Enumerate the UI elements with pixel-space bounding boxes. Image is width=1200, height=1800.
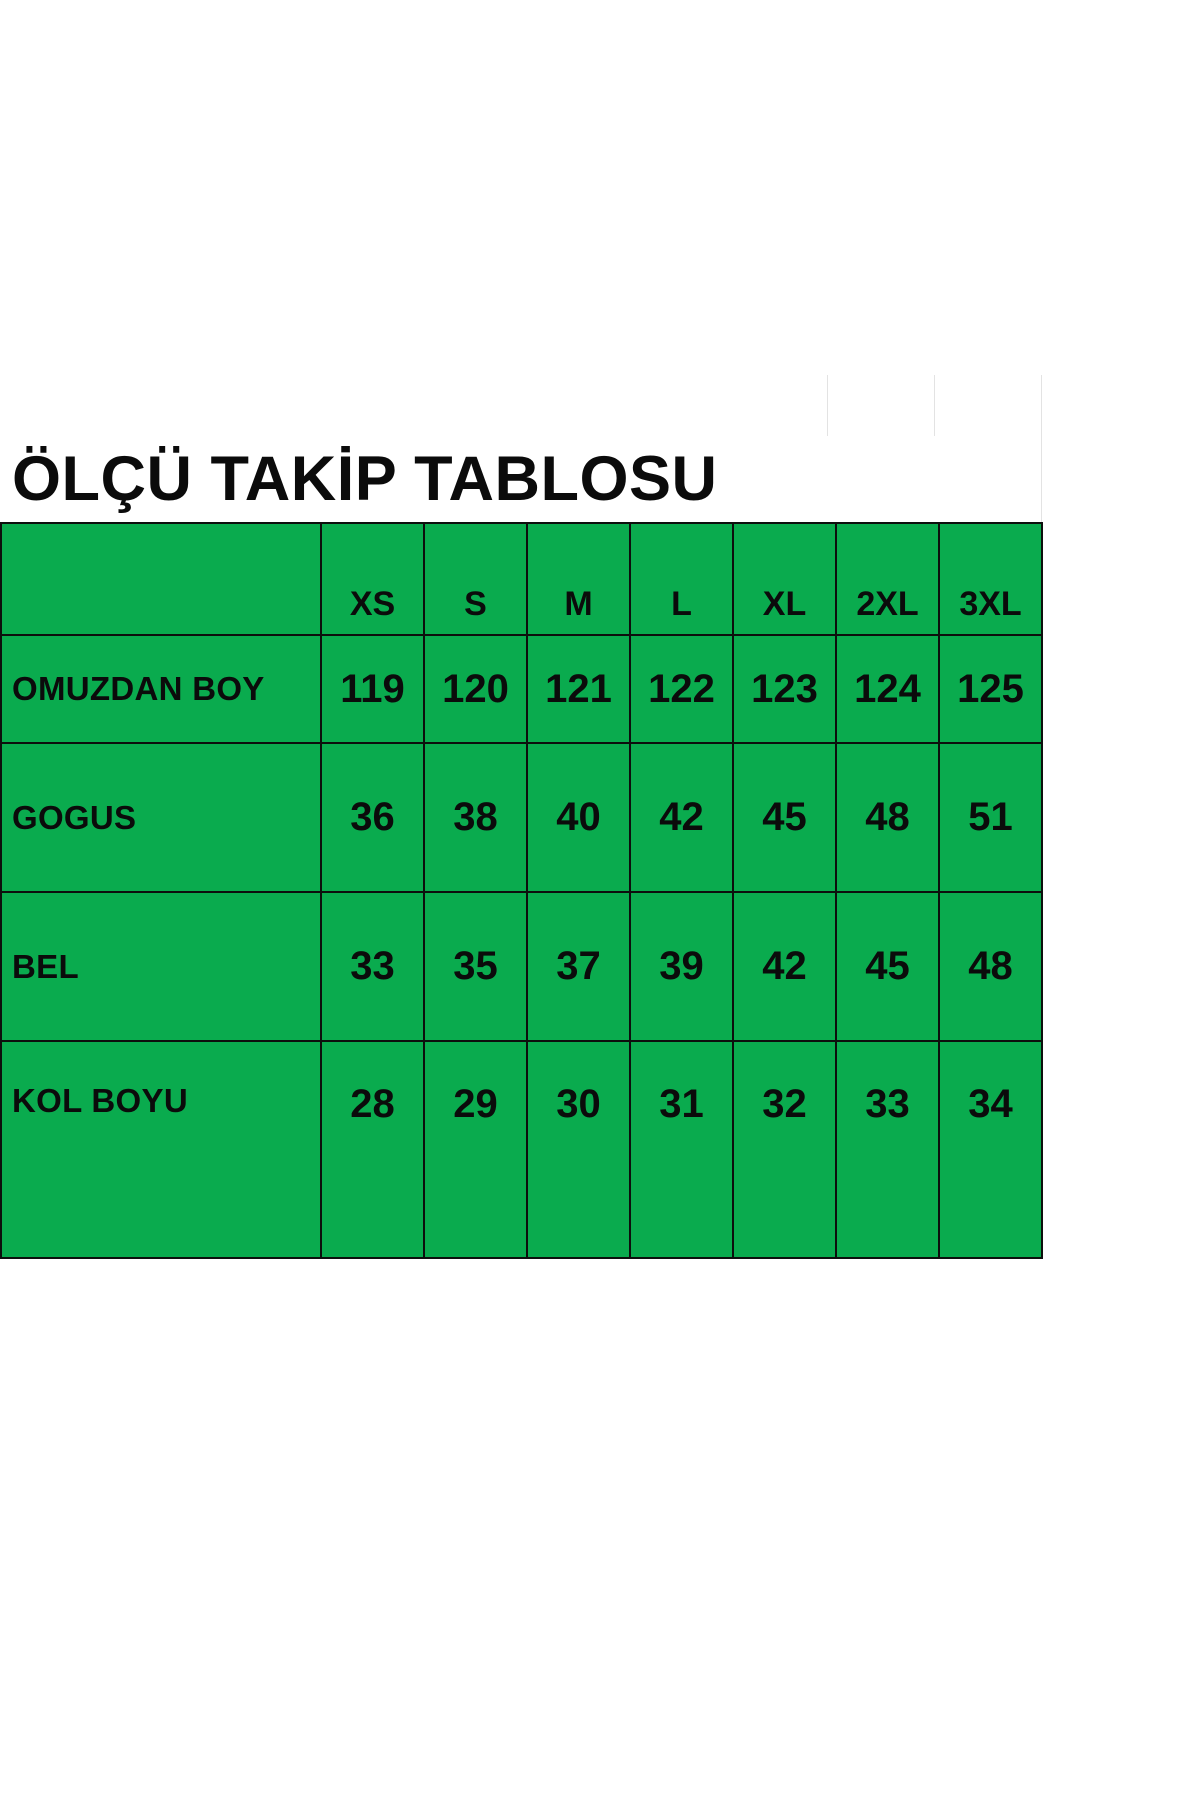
- table-row: OMUZDAN BOY 119 120 121 122 123 124 125: [1, 635, 1042, 743]
- table-row: KOL BOYU 28 29 30 31 32 33 34: [1, 1041, 1042, 1258]
- cell-kol-boyu-3xl: 34: [939, 1041, 1042, 1258]
- cell-omuzdan-boy-2xl: 124: [836, 635, 939, 743]
- cell-gogus-l: 42: [630, 743, 733, 892]
- cell-bel-s: 35: [424, 892, 527, 1041]
- column-header-m: M: [527, 523, 630, 635]
- cell-gogus-xl: 45: [733, 743, 836, 892]
- row-label-gogus: GOGUS: [1, 743, 321, 892]
- page-title-container: ÖLÇÜ TAKİP TABLOSU: [0, 436, 1040, 522]
- cell-omuzdan-boy-xs: 119: [321, 635, 424, 743]
- cell-bel-l: 39: [630, 892, 733, 1041]
- cell-gogus-2xl: 48: [836, 743, 939, 892]
- cell-gogus-xs: 36: [321, 743, 424, 892]
- table-row: GOGUS 36 38 40 42 45 48 51: [1, 743, 1042, 892]
- table-corner-cell: [1, 523, 321, 635]
- cell-omuzdan-boy-3xl: 125: [939, 635, 1042, 743]
- cell-kol-boyu-xl: 32: [733, 1041, 836, 1258]
- table-row: BEL 33 35 37 39 42 45 48: [1, 892, 1042, 1041]
- table-header-row: XS S M L XL 2XL 3XL: [1, 523, 1042, 635]
- column-header-2xl: 2XL: [836, 523, 939, 635]
- cell-kol-boyu-l: 31: [630, 1041, 733, 1258]
- column-header-3xl: 3XL: [939, 523, 1042, 635]
- measurement-table-container: XS S M L XL 2XL 3XL OMUZDAN BOY 119 120 …: [0, 522, 1040, 1259]
- size-chart-page: ÖLÇÜ TAKİP TABLOSU XS S M L XL 2XL 3XL: [0, 0, 1200, 1800]
- cell-bel-m: 37: [527, 892, 630, 1041]
- cell-gogus-3xl: 51: [939, 743, 1042, 892]
- cell-bel-3xl: 48: [939, 892, 1042, 1041]
- cell-gogus-m: 40: [527, 743, 630, 892]
- cell-bel-2xl: 45: [836, 892, 939, 1041]
- cell-omuzdan-boy-m: 121: [527, 635, 630, 743]
- measurement-table: XS S M L XL 2XL 3XL OMUZDAN BOY 119 120 …: [0, 522, 1043, 1259]
- cell-bel-xl: 42: [733, 892, 836, 1041]
- cell-omuzdan-boy-l: 122: [630, 635, 733, 743]
- page-title: ÖLÇÜ TAKİP TABLOSU: [0, 448, 717, 511]
- cell-kol-boyu-m: 30: [527, 1041, 630, 1258]
- row-label-kol-boyu: KOL BOYU: [1, 1041, 321, 1258]
- cell-gogus-s: 38: [424, 743, 527, 892]
- row-label-omuzdan-boy: OMUZDAN BOY: [1, 635, 321, 743]
- cell-kol-boyu-2xl: 33: [836, 1041, 939, 1258]
- cell-omuzdan-boy-xl: 123: [733, 635, 836, 743]
- column-header-s: S: [424, 523, 527, 635]
- column-header-xl: XL: [733, 523, 836, 635]
- row-label-bel: BEL: [1, 892, 321, 1041]
- cell-bel-xs: 33: [321, 892, 424, 1041]
- cell-kol-boyu-xs: 28: [321, 1041, 424, 1258]
- column-header-l: L: [630, 523, 733, 635]
- cell-omuzdan-boy-s: 120: [424, 635, 527, 743]
- cell-kol-boyu-s: 29: [424, 1041, 527, 1258]
- column-header-xs: XS: [321, 523, 424, 635]
